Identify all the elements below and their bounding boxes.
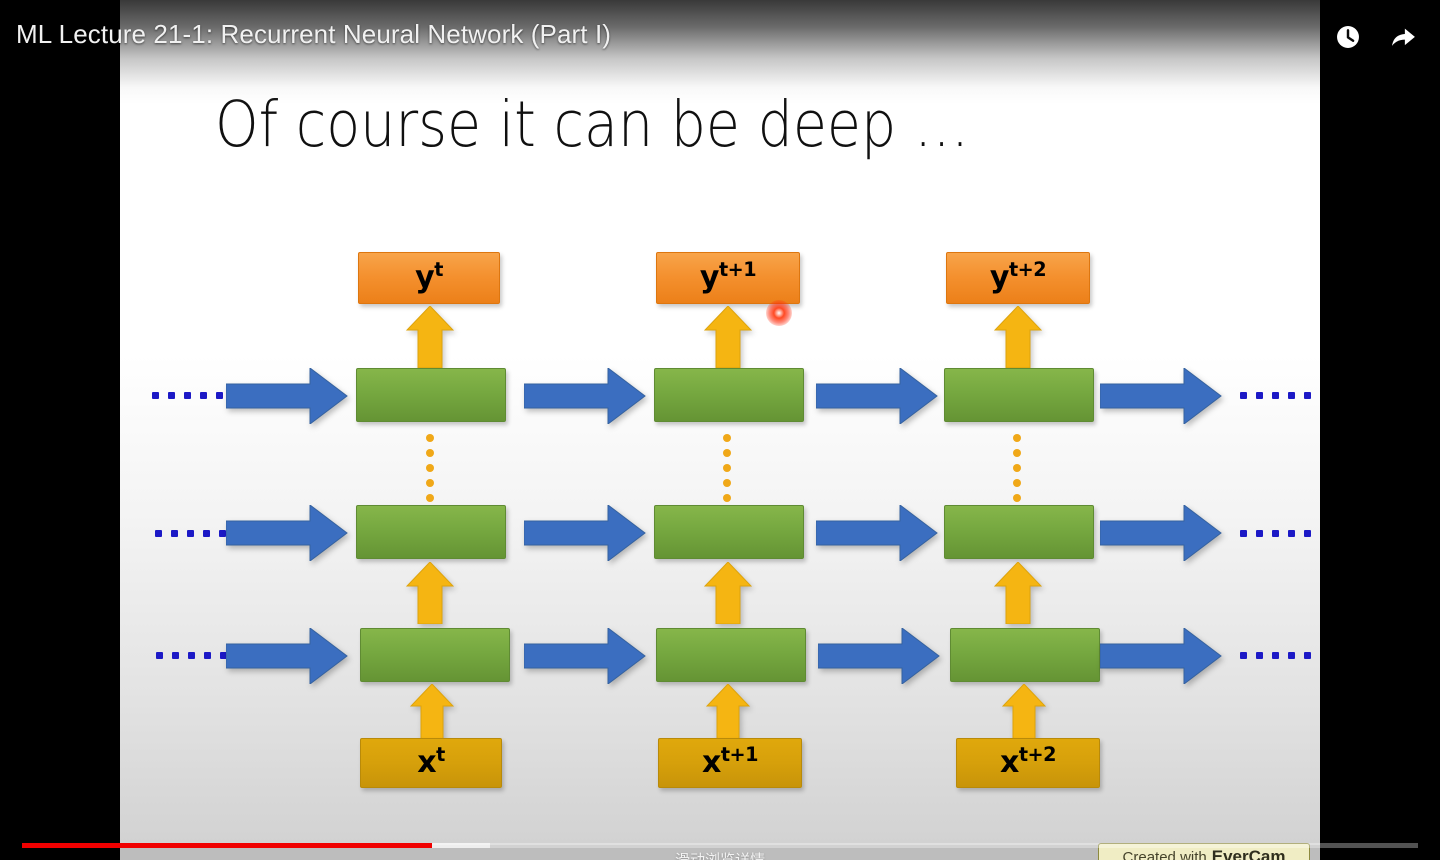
arrow-right-bottom-2 bbox=[818, 628, 940, 684]
arrow-up-input-t1 bbox=[706, 684, 750, 742]
input-label-t1: xt+1 bbox=[702, 748, 758, 778]
share-button[interactable] bbox=[1386, 20, 1420, 54]
hidden-cell-middle-2 bbox=[654, 505, 804, 559]
arrow-up-input-t2 bbox=[1002, 684, 1046, 742]
arrow-right-out-top bbox=[1100, 368, 1222, 424]
hidden-cell-middle-3 bbox=[944, 505, 1094, 559]
clock-icon bbox=[1334, 23, 1362, 51]
hidden-cell-top-2 bbox=[654, 368, 804, 422]
output-box-t1: yt+1 bbox=[656, 252, 800, 304]
arrow-up-middle-1 bbox=[406, 562, 454, 624]
arrow-right-out-middle bbox=[1100, 505, 1222, 561]
arrow-right-top-1 bbox=[524, 368, 646, 424]
share-arrow-icon bbox=[1389, 23, 1417, 51]
hidden-cell-top-1 bbox=[356, 368, 506, 422]
arrow-right-in-bottom bbox=[226, 628, 348, 684]
arrow-right-middle-2 bbox=[816, 505, 938, 561]
input-box-t1: xt+1 bbox=[658, 738, 802, 788]
arrow-up-middle-3 bbox=[994, 562, 1042, 624]
output-box-t: yt bbox=[358, 252, 500, 304]
input-label-t: xt bbox=[417, 748, 445, 778]
letterbox-top-left bbox=[0, 0, 120, 104]
arrow-right-top-2 bbox=[816, 368, 938, 424]
watch-later-button[interactable] bbox=[1331, 20, 1365, 54]
arrow-up-middle-2 bbox=[704, 562, 752, 624]
pointer-highlight bbox=[766, 300, 792, 326]
ellipsis-right-bottom bbox=[1240, 652, 1320, 659]
output-label-t2: yt+2 bbox=[990, 263, 1046, 293]
hidden-cell-bottom-1 bbox=[360, 628, 510, 682]
input-box-t: xt bbox=[360, 738, 502, 788]
arrow-right-in-top bbox=[226, 368, 348, 424]
arrow-up-top-t bbox=[406, 306, 454, 368]
hidden-cell-middle-1 bbox=[356, 505, 506, 559]
progress-bar[interactable] bbox=[0, 840, 1440, 860]
arrow-right-in-middle bbox=[226, 505, 348, 561]
hidden-cell-top-3 bbox=[944, 368, 1094, 422]
arrow-up-top-t2 bbox=[994, 306, 1042, 368]
progress-played bbox=[22, 843, 432, 848]
slide-canvas: Of course it can be deep … yt yt+1 yt+2 bbox=[120, 0, 1320, 845]
hidden-cell-bottom-3 bbox=[950, 628, 1100, 682]
video-title: ML Lecture 21-1: Recurrent Neural Networ… bbox=[16, 19, 611, 50]
output-box-t2: yt+2 bbox=[946, 252, 1090, 304]
output-label-t: yt bbox=[415, 263, 443, 293]
arrow-right-out-bottom bbox=[1100, 628, 1222, 684]
arrow-up-input-t bbox=[410, 684, 454, 742]
progress-track[interactable] bbox=[22, 843, 1418, 848]
video-player[interactable]: Of course it can be deep … yt yt+1 yt+2 bbox=[0, 0, 1440, 860]
hidden-cell-bottom-2 bbox=[656, 628, 806, 682]
arrow-right-middle-1 bbox=[524, 505, 646, 561]
ellipsis-right-middle bbox=[1240, 530, 1320, 537]
arrow-up-top-t1 bbox=[704, 306, 752, 368]
input-box-t2: xt+2 bbox=[956, 738, 1100, 788]
ellipsis-right-top bbox=[1240, 392, 1320, 399]
input-label-t2: xt+2 bbox=[1000, 748, 1056, 778]
arrow-right-bottom-1 bbox=[524, 628, 646, 684]
output-label-t1: yt+1 bbox=[700, 263, 756, 293]
slide-heading: Of course it can be deep … bbox=[215, 88, 969, 161]
